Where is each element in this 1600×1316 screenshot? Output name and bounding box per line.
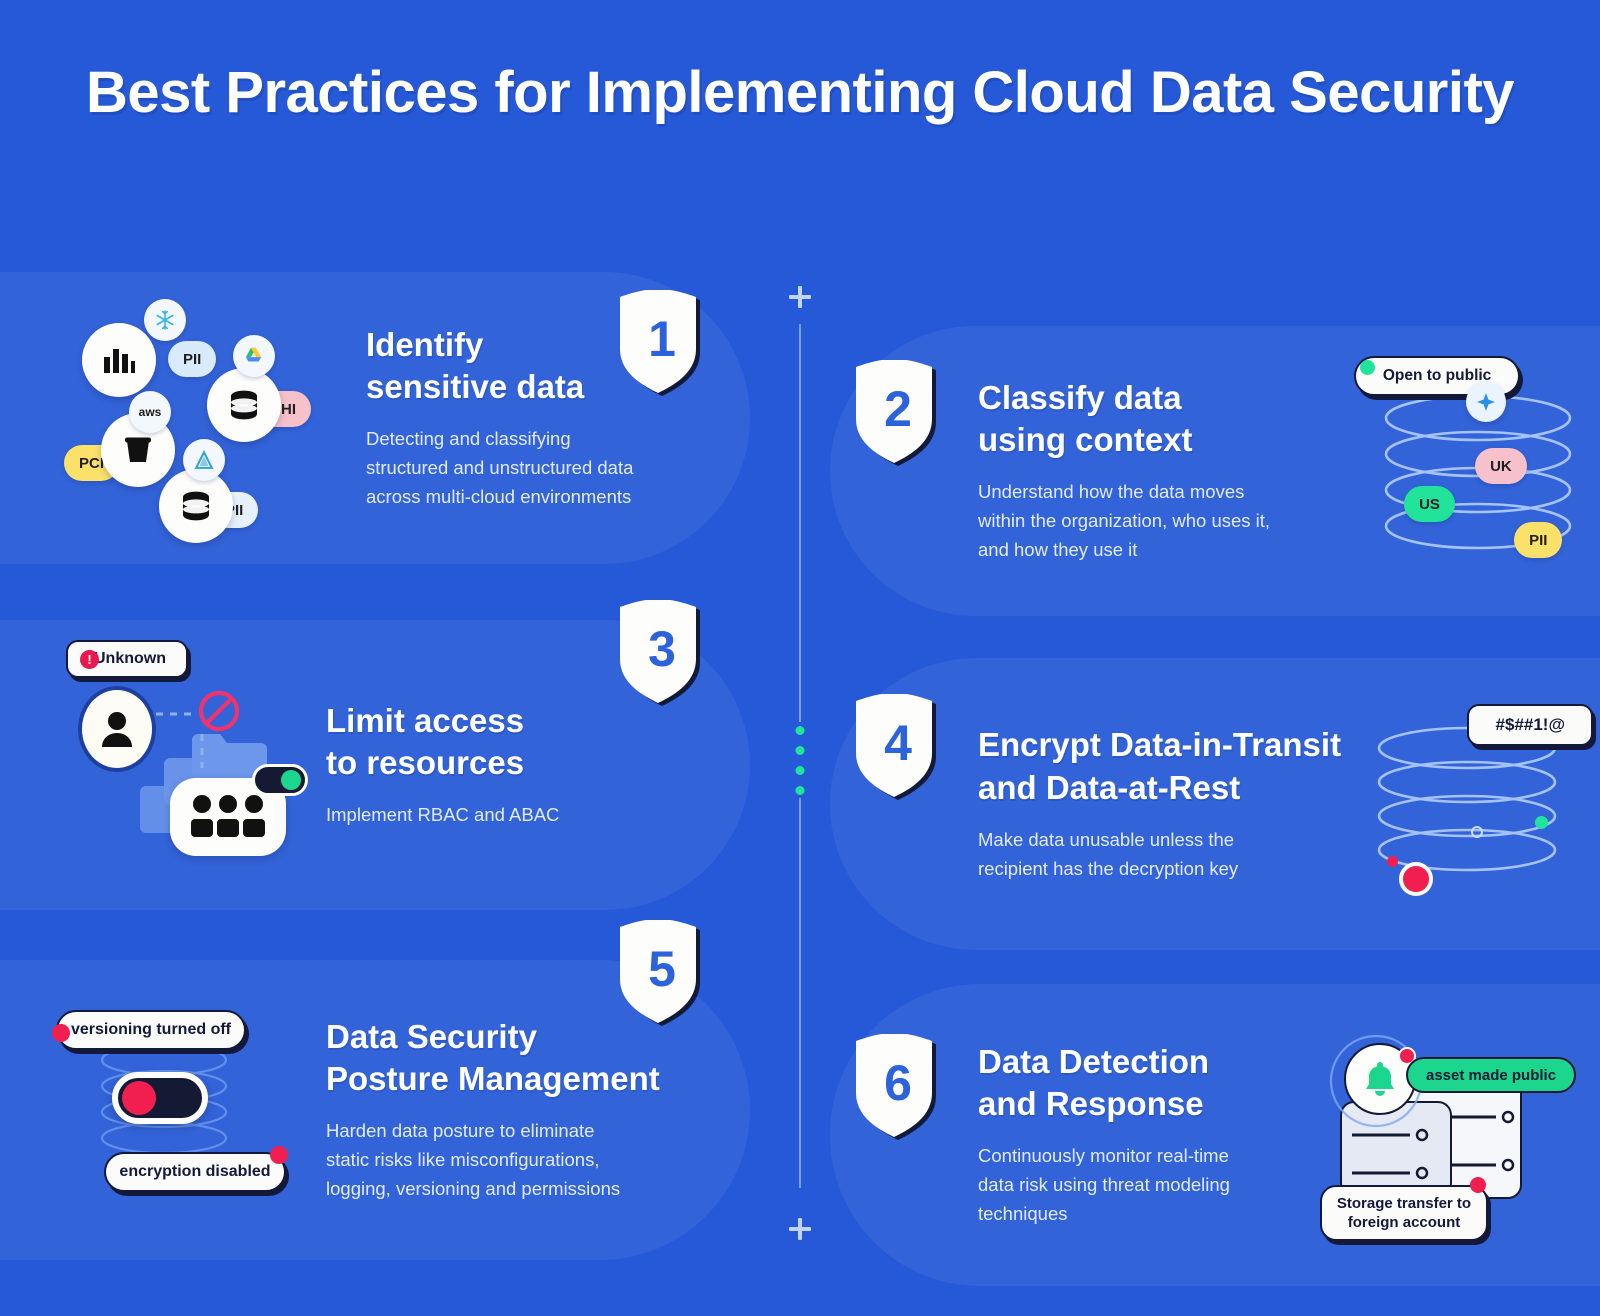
step-badge-2: 2 [852,360,944,468]
step-number-2: 2 [852,360,944,468]
card-6-heading: Data Detection and Response [978,1041,1308,1125]
alert-dot-icon [270,1146,288,1164]
illustration-data-context-spiral: Open to public UK US PII [1348,356,1590,586]
practice-card-1: PII PHI aws PCI PII [0,272,750,564]
practice-card-5: versioning turned off encryption disable… [0,960,750,1260]
practice-card-3: Unknown ! Limit access to resources Impl… [0,620,750,910]
region-tag-uk: UK [1475,448,1527,484]
region-tag-us: US [1404,486,1455,522]
card-2-text: Classify data using context Understand h… [978,377,1336,565]
google-drive-icon [233,335,275,377]
illustration-sensitive-data: PII PHI aws PCI PII [60,293,330,543]
step-number-3: 3 [616,600,708,708]
card-5-body: Harden data posture to eliminate static … [326,1117,696,1204]
step-number-4: 4 [852,694,944,802]
data-tag-pii: PII [1514,522,1562,558]
card-6-text: Data Detection and Response Continuously… [978,1041,1308,1229]
card-1-body: Detecting and classifying structured and… [366,425,696,512]
callout-storage-transfer-label: Storage transfer to foreign account [1337,1194,1471,1233]
divider-line-upper [799,324,801,722]
illustration-posture-toggle: versioning turned off encryption disable… [38,1010,288,1210]
callout-versioning-off: versioning turned off [56,1010,246,1050]
callout-asset-public: asset made public [1406,1057,1576,1093]
card-3-body: Implement RBAC and ABAC [326,801,666,830]
practice-card-6: 6 Data Detection and Response Continuous… [830,984,1600,1286]
step-badge-4: 4 [852,694,944,802]
divider-line-lower [799,798,801,1188]
divider-dots [796,726,805,795]
illustration-detection-response: asset made public Storage transfer to fo… [1314,1035,1564,1235]
plus-icon [789,286,811,308]
step-badge-5: 5 [616,920,708,1028]
step-number-5: 5 [616,920,708,1028]
bar-chart-icon [82,323,156,397]
spiral-graphic [1367,726,1582,886]
card-5-text: Data Security Posture Management Harden … [326,1016,696,1204]
card-2-heading: Classify data using context [978,377,1336,461]
page-title: Best Practices for Implementing Cloud Da… [0,52,1600,134]
connector-dashes [154,702,214,772]
step-badge-3: 3 [616,600,708,708]
access-toggle[interactable] [252,764,308,796]
alert-dot-icon [1470,1177,1486,1193]
database-icon [159,469,233,543]
illustration-limit-access: Unknown ! [54,640,304,890]
practice-card-2: 2 Classify data using context Understand… [830,326,1600,616]
sparkle-icon [1466,382,1506,422]
callout-storage-transfer: Storage transfer to foreign account [1320,1185,1488,1241]
alert-dot-icon [52,1024,70,1042]
callout-encrypted-label: #$##1!@ [1496,715,1566,735]
asset-tag-pii: PII [168,341,216,377]
step-badge-6: 6 [852,1034,944,1142]
step-number-1: 1 [616,290,708,398]
center-divider [783,258,817,1316]
posture-toggle[interactable] [112,1072,208,1124]
practice-card-4: 4 Encrypt Data-in-Transit and Data-at-Re… [830,658,1600,950]
callout-dot [1360,360,1375,375]
card-4-text: Encrypt Data-in-Transit and Data-at-Rest… [978,724,1365,883]
plus-icon [789,1218,811,1240]
practices-grid: PII PHI aws PCI PII [0,258,1600,1316]
aws-icon: aws [129,391,171,433]
card-4-body: Make data unusable unless the recipient … [978,826,1365,884]
card-5-heading: Data Security Posture Management [326,1016,696,1100]
callout-unknown-label: Unknown [94,650,166,668]
card-6-body: Continuously monitor real-time data risk… [978,1142,1308,1229]
snowflake-icon [144,299,186,341]
card-2-body: Understand how the data moves within the… [978,478,1336,565]
callout-encryption-label: encryption disabled [119,1163,270,1181]
callout-asset-public-label: asset made public [1426,1067,1556,1084]
card-3-text: Limit access to resources Implement RBAC… [326,700,666,830]
step-badge-1: 1 [616,290,708,398]
callout-versioning-label: versioning turned off [71,1021,231,1039]
step-number-6: 6 [852,1034,944,1142]
callout-open-to-public-label: Open to public [1383,367,1492,385]
illustration-encryption-spiral: #$##1!@ [1367,704,1590,904]
azure-icon [183,439,225,481]
database-icon [207,368,281,442]
user-avatar-icon [78,686,156,772]
title-block: Best Practices for Implementing Cloud Da… [0,0,1600,134]
callout-encryption-disabled: encryption disabled [104,1152,286,1192]
node-dot-red-large [1399,862,1433,896]
document-lines [1350,1121,1446,1191]
card-4-heading: Encrypt Data-in-Transit and Data-at-Rest [978,724,1365,808]
callout-encrypted-string: #$##1!@ [1467,704,1593,746]
alert-dot-icon: ! [80,650,99,669]
card-3-heading: Limit access to resources [326,700,666,784]
